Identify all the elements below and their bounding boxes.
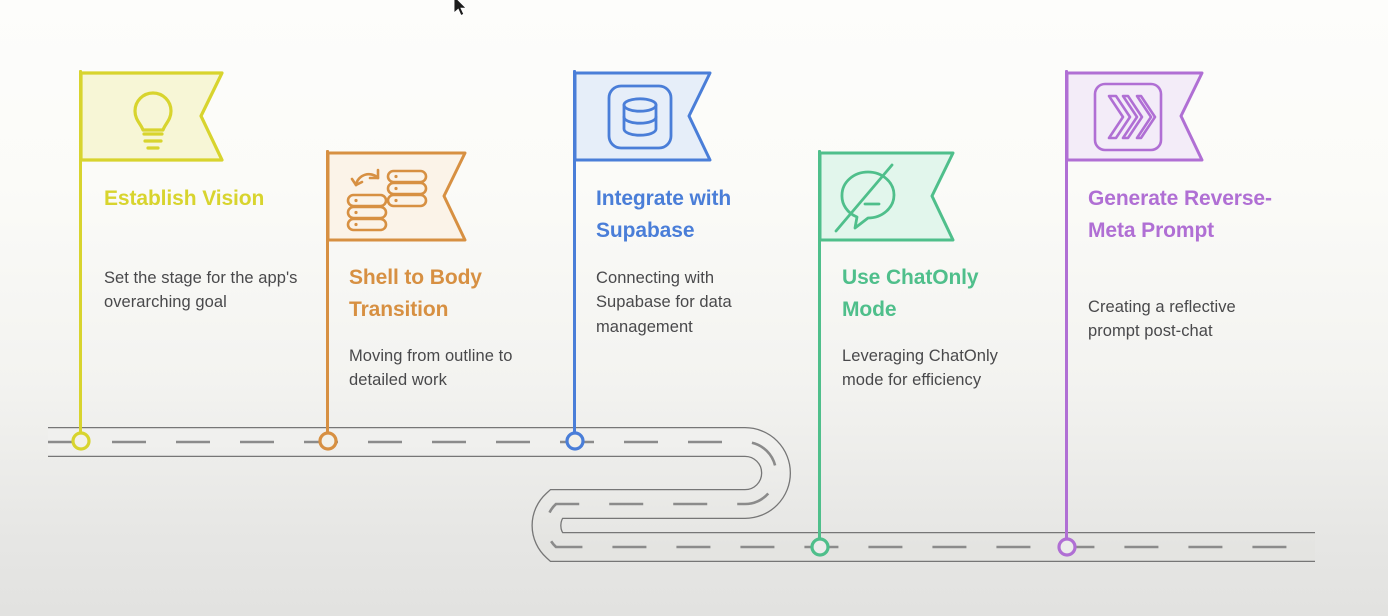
mouse-cursor-icon [454,0,466,16]
milestone-description: Leveraging ChatOnly mode for efficiency [842,344,1042,393]
milestone-title: Shell to Body Transition [349,262,534,326]
milestone-title: Generate Reverse-Meta Prompt [1088,183,1284,247]
milestone-flag[interactable] [818,151,958,243]
milestone-title: Integrate with Supabase [596,183,786,247]
milestone-flag[interactable] [573,71,715,163]
milestone-description: Creating a reflective prompt post-chat [1088,295,1280,344]
roadmap-diagram: Establish Vision Set the stage for the a… [0,0,1388,616]
milestone-description: Connecting with Supabase for data manage… [596,266,776,339]
milestone-flag[interactable] [326,151,470,243]
milestone-flag[interactable] [1065,71,1207,163]
milestone-description: Moving from outline to detailed work [349,344,545,393]
milestone-generate-reverse-meta-prompt[interactable]: Generate Reverse-Meta Prompt Creating a … [0,0,320,616]
milestone-title: Use ChatOnly Mode [842,262,1020,326]
